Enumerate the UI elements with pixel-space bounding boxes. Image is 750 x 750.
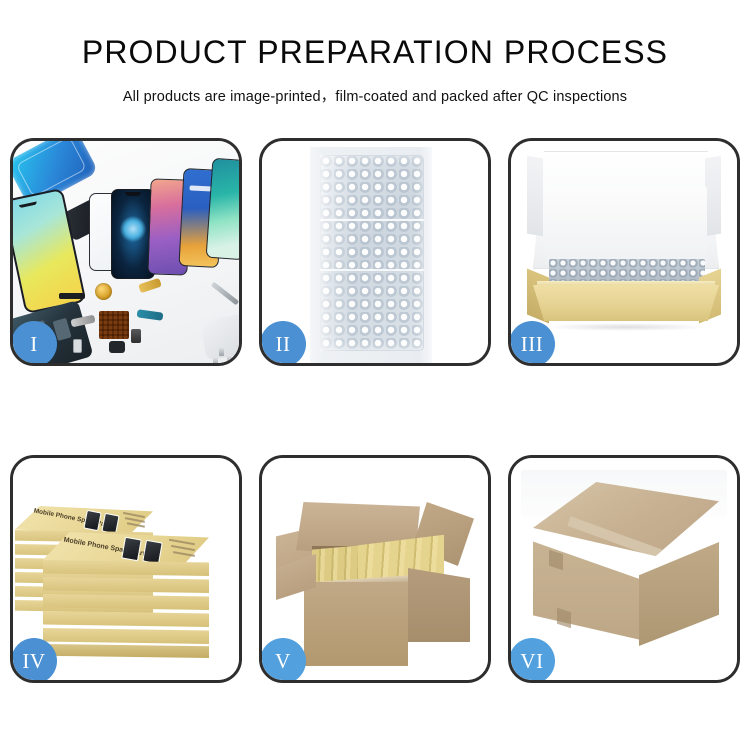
- step-number-badge-1: I: [11, 321, 57, 366]
- box-side-face: [43, 644, 209, 658]
- step-number-badge-4: IV: [11, 638, 57, 683]
- step-number-badge-6: VI: [509, 638, 555, 683]
- copper-contact-grid-icon: [99, 311, 129, 339]
- step-panel-2: II: [259, 138, 491, 366]
- pouch-highlight: [320, 155, 354, 351]
- step-panel-5: V: [259, 455, 491, 683]
- header: PRODUCT PREPARATION PROCESS All products…: [0, 0, 750, 122]
- page-title: PRODUCT PREPARATION PROCESS: [82, 36, 668, 68]
- box-front-face: [43, 611, 209, 627]
- phone-status-bar-icon: [189, 185, 211, 191]
- phone-teal-wallpaper-icon: [206, 158, 239, 260]
- box-front-face: [43, 628, 209, 644]
- step-number-badge-3: III: [509, 321, 555, 366]
- battery-cell-icon: [131, 329, 141, 343]
- step-panel-6: VI: [508, 455, 740, 683]
- box-front-face: [43, 577, 209, 593]
- carton-handle-tab-icon: [557, 608, 571, 629]
- white-foam-insert-icon: [545, 187, 707, 265]
- step-number-badge-5: V: [260, 638, 306, 683]
- sim-tray-icon: [73, 339, 82, 353]
- process-steps-grid: I II: [10, 138, 740, 683]
- screw-icon: [219, 347, 224, 356]
- screw-icon: [213, 357, 218, 363]
- camera-module-icon: [109, 341, 125, 353]
- phone-notch-icon: [125, 192, 141, 196]
- box-lid-tab-left-icon: [527, 156, 543, 237]
- step-panel-3: III: [508, 138, 740, 366]
- step-number-badge-2: II: [260, 321, 306, 366]
- carton-side-face-icon: [408, 568, 470, 642]
- carton-side-face-icon: [639, 542, 719, 646]
- page-subtitle: All products are image-printed，film-coat…: [123, 85, 627, 106]
- box-drop-shadow: [545, 323, 707, 331]
- wireless-charging-coil-icon: [95, 283, 112, 300]
- infographic-page: PRODUCT PREPARATION PROCESS All products…: [0, 0, 750, 750]
- carton-front-face-icon: [304, 582, 408, 666]
- box-lid-tab-right-icon: [705, 156, 721, 237]
- box-front-face: [43, 594, 209, 610]
- screw-icon: [227, 355, 232, 363]
- step-panel-1: I: [10, 138, 242, 366]
- step-panel-4: Mobile Phone Spare Parts Mobile Phone Sp…: [10, 455, 242, 683]
- box-front-face: [43, 560, 209, 576]
- earpiece-speaker-icon: [59, 293, 85, 299]
- yellow-box-front-icon: [533, 285, 719, 321]
